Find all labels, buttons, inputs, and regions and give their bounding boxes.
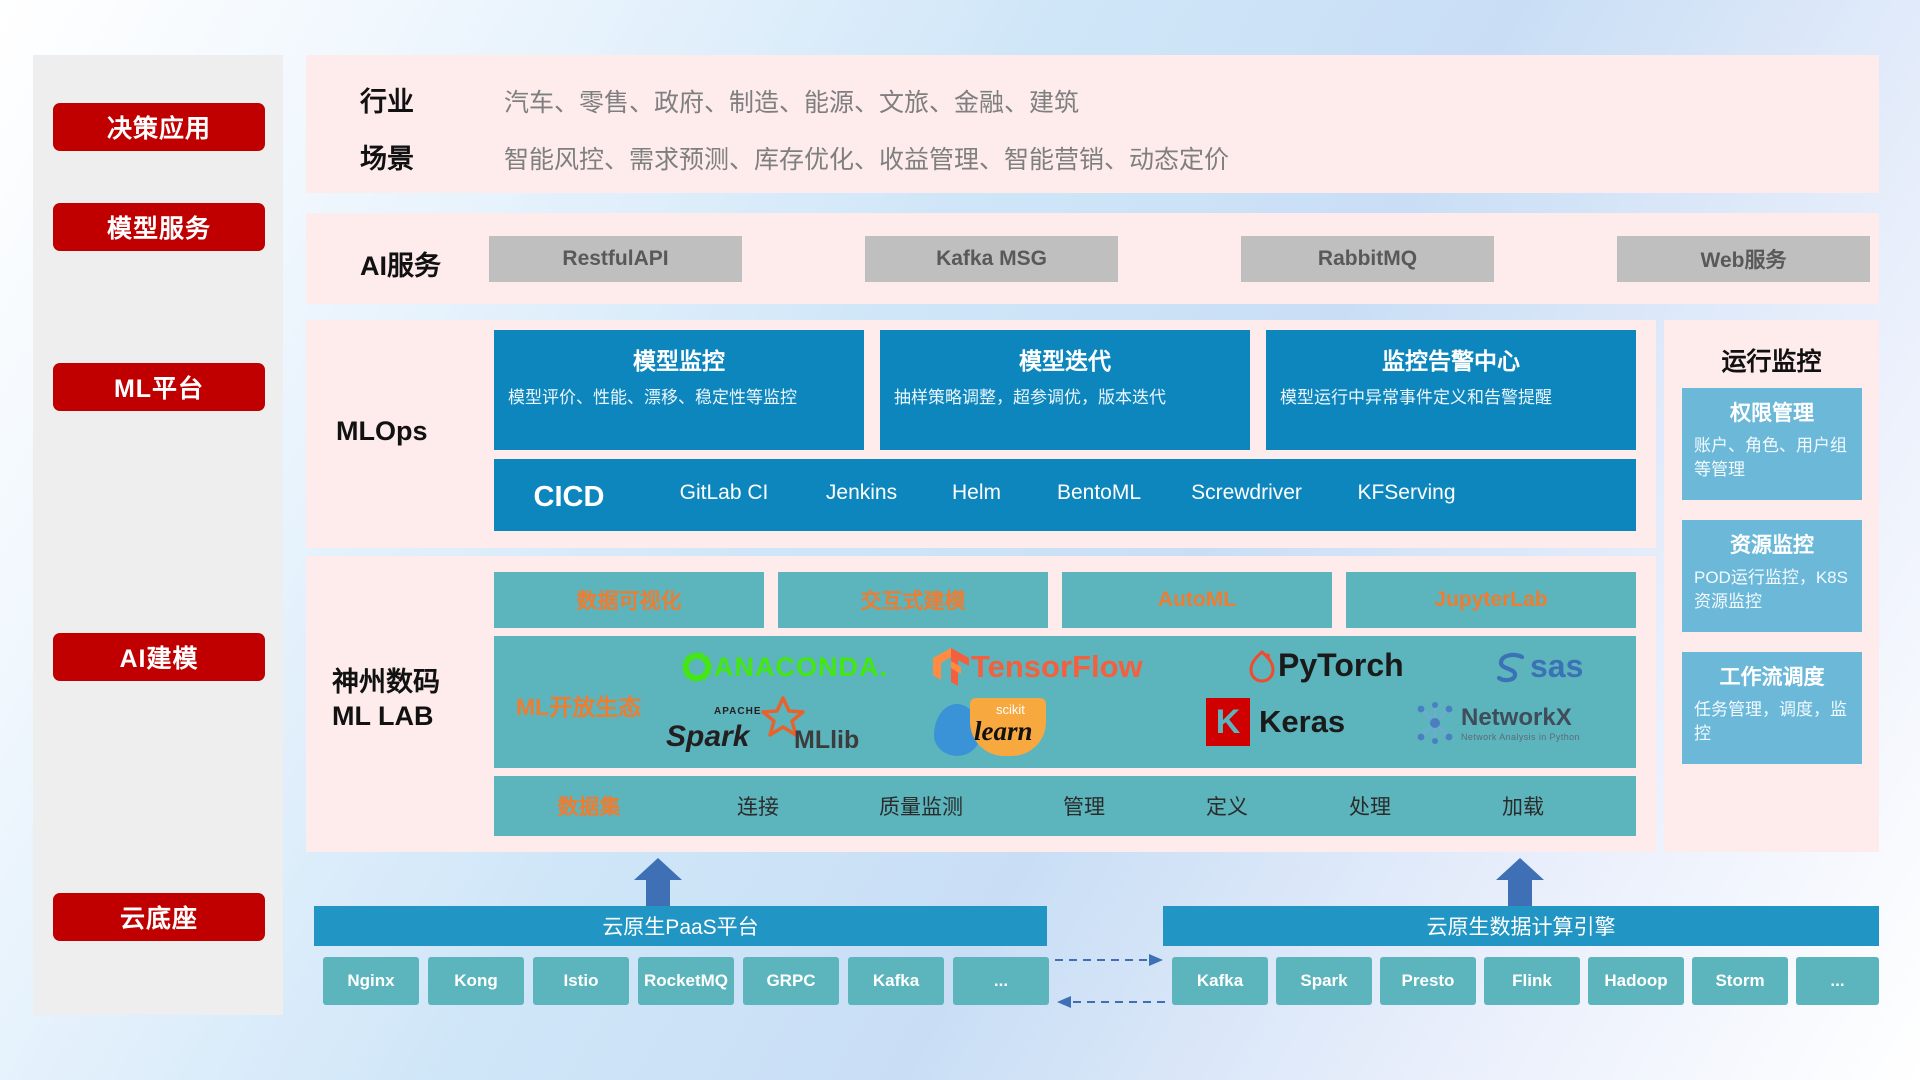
monitoring-card-resource[interactable]: 资源监控 POD运行监控，K8S资源监控	[1682, 520, 1862, 632]
cicd-kfserving[interactable]: KFServing	[1329, 459, 1484, 505]
monitoring-card-desc: 任务管理，调度，监控	[1694, 698, 1850, 746]
cloud-chip-kafka-r[interactable]: Kafka	[1172, 957, 1268, 1005]
anaconda-logo: ANACONDA.	[680, 650, 888, 684]
networkx-graph-icon	[1414, 700, 1456, 746]
anaconda-wordmark: ANACONDA.	[714, 652, 888, 683]
tool-interactive-modeling[interactable]: 交互式建模	[778, 572, 1048, 628]
dataset-label: 数据集	[494, 791, 684, 821]
dataset-define[interactable]: 定义	[1158, 791, 1296, 821]
cloud-chip-flink[interactable]: Flink	[1484, 957, 1580, 1005]
chip-restfulapi[interactable]: RestfulAPI	[489, 236, 742, 282]
industry-label: 行业	[360, 80, 414, 119]
pytorch-flame-icon	[1246, 646, 1278, 684]
sas-swirl-icon	[1494, 650, 1530, 684]
mlops-card-desc: 模型评价、性能、漂移、稳定性等监控	[508, 386, 850, 409]
dataset-connect[interactable]: 连接	[684, 791, 832, 821]
monitoring-card-permission[interactable]: 权限管理 账户、角色、用户组等管理	[1682, 388, 1862, 500]
cloud-chip-hadoop[interactable]: Hadoop	[1588, 957, 1684, 1005]
scenario-value: 智能风控、需求预测、库存优化、收益管理、智能营销、动态定价	[504, 140, 1229, 176]
monitoring-card-workflow[interactable]: 工作流调度 任务管理，调度，监控	[1682, 652, 1862, 764]
dataset-load[interactable]: 加载	[1444, 791, 1602, 821]
monitoring-card-title: 工作流调度	[1682, 661, 1862, 691]
cloud-chip-kong[interactable]: Kong	[428, 957, 524, 1005]
sas-wordmark: sas	[1530, 648, 1583, 685]
left-rail: 决策应用 模型服务 ML平台 AI建模 云底座	[33, 55, 283, 1015]
cloud-chip-grpc[interactable]: GRPC	[743, 957, 839, 1005]
cloud-link-arrows-icon	[1055, 950, 1165, 1012]
cloud-chip-nginx[interactable]: Nginx	[323, 957, 419, 1005]
apache-label: APACHE	[714, 706, 761, 717]
mlops-label: MLOps	[336, 415, 428, 449]
anaconda-ring-icon	[680, 650, 714, 684]
ml-open-ecosystem-panel: ML开放生态 ANACONDA. TensorFlow	[494, 636, 1636, 768]
scikit-learn-logo: scikit learn	[934, 698, 1094, 758]
spark-wordmark: Spark	[666, 720, 749, 754]
monitoring-card-desc: 账户、角色、用户组等管理	[1694, 434, 1850, 482]
scenario-label: 场景	[360, 137, 414, 176]
monitoring-card-desc: POD运行监控，K8S资源监控	[1694, 566, 1850, 614]
ai-service-label: AI服务	[360, 244, 441, 283]
networkx-tagline: Network Analysis in Python	[1461, 732, 1580, 742]
cloud-chip-istio[interactable]: Istio	[533, 957, 629, 1005]
tensorflow-logo: TensorFlow	[931, 646, 1143, 688]
cloud-chip-kafka[interactable]: Kafka	[848, 957, 944, 1005]
dataset-process[interactable]: 处理	[1296, 791, 1444, 821]
cicd-helm[interactable]: Helm	[919, 459, 1034, 505]
dataset-quality[interactable]: 质量监测	[832, 791, 1010, 821]
cloud-bar-data-engine: 云原生数据计算引擎	[1163, 906, 1879, 946]
cloud-chip-presto[interactable]: Presto	[1380, 957, 1476, 1005]
industry-value: 汽车、零售、政府、制造、能源、文旅、金融、建筑	[504, 83, 1079, 119]
pytorch-logo: PyTorch	[1246, 646, 1404, 684]
monitoring-card-title: 权限管理	[1682, 397, 1862, 427]
cicd-jenkins[interactable]: Jenkins	[804, 459, 919, 505]
cloud-chip-more-left[interactable]: ...	[953, 957, 1049, 1005]
tool-automl[interactable]: AutoML	[1062, 572, 1332, 628]
cicd-gitlab-ci[interactable]: GitLab CI	[644, 459, 804, 505]
mlops-card-model-iteration[interactable]: 模型迭代 抽样策略调整，超参调优，版本迭代	[880, 330, 1250, 450]
mlops-card-desc: 模型运行中异常事件定义和告警提醒	[1280, 386, 1622, 409]
ai-service-band: AI服务 RestfulAPI Kafka MSG RabbitMQ Web服务	[306, 213, 1879, 304]
monitoring-card-title: 资源监控	[1682, 529, 1862, 559]
keras-k-mark-icon: K	[1206, 698, 1250, 746]
networkx-logo: NetworkX Network Analysis in Python	[1414, 700, 1580, 746]
monitoring-panel: 运行监控 权限管理 账户、角色、用户组等管理 资源监控 POD运行监控，K8S资…	[1664, 320, 1879, 852]
architecture-diagram: 决策应用 模型服务 ML平台 AI建模 云底座 行业 汽车、零售、政府、制造、能…	[0, 0, 1920, 1080]
mlops-card-model-monitoring[interactable]: 模型监控 模型评价、性能、漂移、稳定性等监控	[494, 330, 864, 450]
scikit-label: scikit	[996, 702, 1025, 717]
rail-item-model-service[interactable]: 模型服务	[53, 203, 265, 251]
rail-item-decision-app[interactable]: 决策应用	[53, 103, 265, 151]
rail-item-ml-platform[interactable]: ML平台	[53, 363, 265, 411]
industry-band: 行业 汽车、零售、政府、制造、能源、文旅、金融、建筑 场景 智能风控、需求预测、…	[306, 55, 1879, 193]
cloud-chip-rocketmq[interactable]: RocketMQ	[638, 957, 734, 1005]
mlops-card-title: 模型监控	[494, 342, 864, 376]
cicd-screwdriver[interactable]: Screwdriver	[1164, 459, 1329, 505]
mllab-band: 神州数码 ML LAB 数据可视化 交互式建模 AutoML JupyterLa…	[306, 556, 1656, 852]
dataset-manage[interactable]: 管理	[1010, 791, 1158, 821]
cloud-bar-paas: 云原生PaaS平台	[314, 906, 1047, 946]
networkx-wordmark: NetworkX	[1461, 704, 1580, 732]
learn-wordmark: learn	[974, 716, 1033, 747]
spark-mllib-logo: APACHE Spark MLlib	[666, 702, 866, 758]
mllab-label: 神州数码 ML LAB	[332, 666, 440, 734]
arrow-up-paas-icon	[632, 858, 684, 906]
rail-item-cloud-base[interactable]: 云底座	[53, 893, 265, 941]
cicd-bentoml[interactable]: BentoML	[1034, 459, 1164, 505]
arrow-up-data-engine-icon	[1494, 858, 1546, 906]
dataset-strip: 数据集 连接 质量监测 管理 定义 处理 加载	[494, 776, 1636, 836]
cloud-chip-storm[interactable]: Storm	[1692, 957, 1788, 1005]
cloud-chip-more-right[interactable]: ...	[1796, 957, 1879, 1005]
cloud-chip-spark[interactable]: Spark	[1276, 957, 1372, 1005]
tool-jupyterlab[interactable]: JupyterLab	[1346, 572, 1636, 628]
chip-kafka-msg[interactable]: Kafka MSG	[865, 236, 1118, 282]
rail-item-ai-modeling[interactable]: AI建模	[53, 633, 265, 681]
pytorch-wordmark: PyTorch	[1278, 647, 1404, 684]
keras-logo: K Keras	[1206, 698, 1345, 746]
mlops-band: MLOps 模型监控 模型评价、性能、漂移、稳定性等监控 模型迭代 抽样策略调整…	[306, 320, 1656, 548]
mlops-card-alert-center[interactable]: 监控告警中心 模型运行中异常事件定义和告警提醒	[1266, 330, 1636, 450]
cicd-strip: CICD GitLab CI Jenkins Helm BentoML Scre…	[494, 459, 1636, 531]
mllib-wordmark: MLlib	[794, 726, 859, 755]
mlops-card-title: 模型迭代	[880, 342, 1250, 376]
chip-rabbitmq[interactable]: RabbitMQ	[1241, 236, 1494, 282]
tensorflow-wordmark: TensorFlow	[971, 649, 1143, 685]
tool-data-visualization[interactable]: 数据可视化	[494, 572, 764, 628]
chip-web-service[interactable]: Web服务	[1617, 236, 1870, 282]
keras-wordmark: Keras	[1259, 704, 1345, 740]
tensorflow-mark-icon	[931, 646, 971, 688]
mlops-card-title: 监控告警中心	[1266, 342, 1636, 376]
monitoring-panel-title: 运行监控	[1664, 342, 1879, 378]
sas-logo: sas	[1494, 648, 1583, 685]
cicd-label: CICD	[494, 459, 644, 514]
mlops-card-desc: 抽样策略调整，超参调优，版本迭代	[894, 386, 1236, 409]
ml-open-ecosystem-label: ML开放生态	[516, 688, 641, 722]
